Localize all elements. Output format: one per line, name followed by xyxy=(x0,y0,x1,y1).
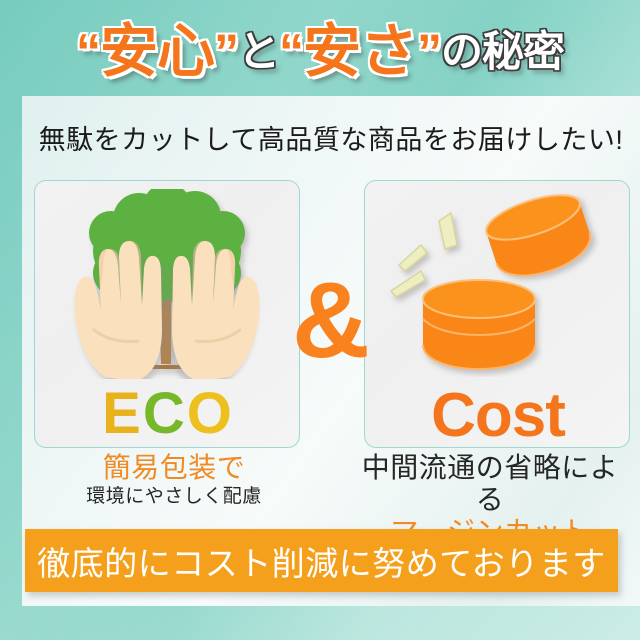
coin-stack-lid-popping-icon xyxy=(377,187,617,377)
headline-quote-close-1: ” xyxy=(214,22,238,82)
headline-quote-open-2: “ xyxy=(279,22,303,82)
headline-conjunction: と xyxy=(238,22,279,82)
subtitle-text: 無駄をカットして高品質な商品をお届けしたい! xyxy=(22,118,640,157)
feature-panels: ECO xyxy=(34,180,630,448)
caption-cost-main: 中間流通の省略による xyxy=(350,452,630,516)
headline-quote-open-1: “ xyxy=(76,22,100,82)
headline: “ 安心 ” と “ 安さ ” の秘密 xyxy=(0,14,640,90)
promo-banner: “ 安心 ” と “ 安さ ” の秘密 無駄をカットして高品質な商品をお届けした… xyxy=(0,0,640,640)
eco-wordmark: ECO xyxy=(35,385,300,443)
caption-eco: 簡易包装で 環境にやさしく配慮 xyxy=(34,452,314,530)
cost-wordmark: Cost xyxy=(365,385,630,447)
headline-quote-close-2: ” xyxy=(417,22,441,82)
bottom-banner-text: 徹底的にコスト削減に努めております xyxy=(37,537,606,585)
panel-captions: 簡易包装で 環境にやさしく配慮 中間流通の省略による マージンカット xyxy=(34,452,630,530)
headline-word-yasusa: 安さ xyxy=(303,22,417,82)
hands-holding-tree-icon xyxy=(47,189,287,379)
caption-eco-sub: 環境にやさしく配慮 xyxy=(34,484,314,510)
headline-tail-himitsu: の秘密 xyxy=(441,22,564,82)
headline-word-anshin: 安心 xyxy=(100,22,214,82)
eco-letter-c: C xyxy=(143,381,187,446)
panel-eco[interactable]: ECO xyxy=(34,180,300,448)
eco-letter-o: O xyxy=(187,381,234,446)
panel-cost[interactable]: Cost xyxy=(364,180,630,448)
caption-cost: 中間流通の省略による マージンカット xyxy=(350,452,630,530)
eco-letter-e: E xyxy=(102,381,143,446)
bottom-banner: 徹底的にコスト削減に努めております xyxy=(25,529,618,592)
caption-eco-main: 簡易包装で xyxy=(34,452,314,484)
